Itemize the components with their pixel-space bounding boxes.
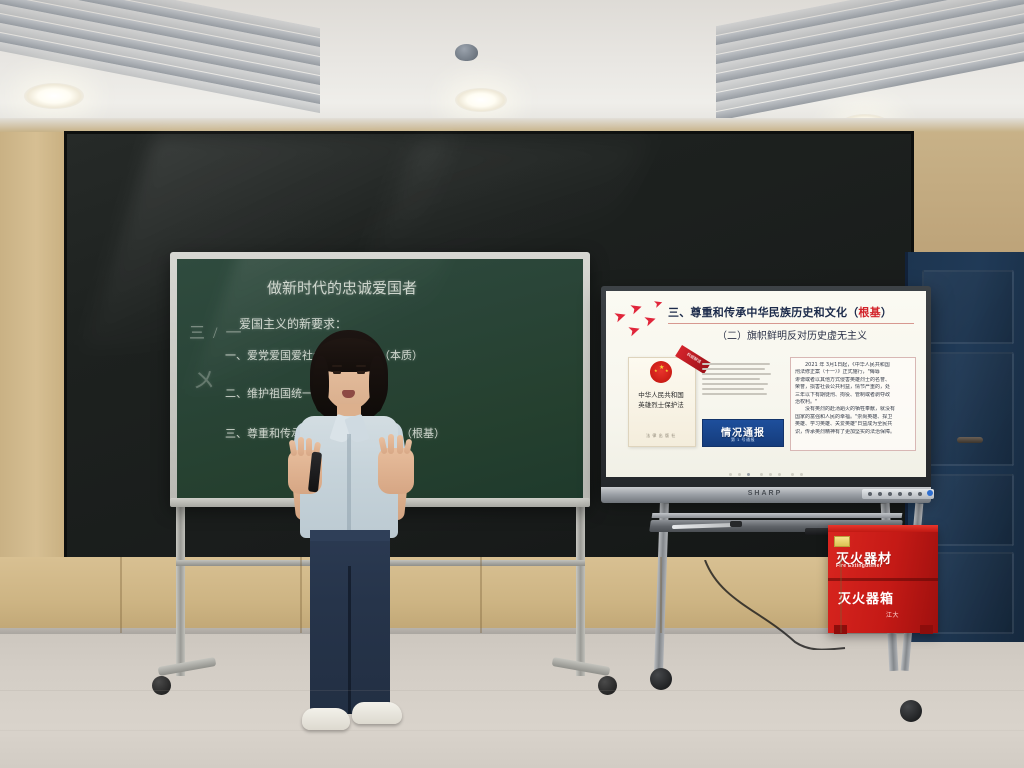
slide-title-row: 三、尊重和传承中华民族历史和文化（根基） bbox=[668, 303, 916, 322]
wainscot-seam bbox=[480, 557, 482, 633]
floor bbox=[0, 634, 1024, 768]
wainscot-seam bbox=[120, 557, 122, 633]
classroom-photo: 做新时代的忠诚爱国者 爱国主义的新要求： 一、爱党爱国爱社会主义的统一（本质） … bbox=[0, 0, 1024, 768]
title-underline bbox=[668, 323, 914, 324]
floor-seam bbox=[0, 690, 1024, 691]
slide-body-line: 没有英烈的赴汤蹈火的牺牲奉献，就没有 bbox=[795, 406, 911, 413]
waistband bbox=[310, 530, 390, 541]
door-panel bbox=[922, 270, 1014, 344]
blackboard-caster bbox=[598, 676, 617, 695]
eyebrow bbox=[356, 365, 366, 367]
power-indicator-icon bbox=[927, 490, 933, 496]
notice-banner-subtitle: 第 1 号通报 bbox=[703, 437, 783, 443]
display-screen[interactable]: ➤ ➤ ➤ ➤ ➤ 三、尊重和传承中华民族历史和文化（根基） （二）旗帜鲜明反对… bbox=[606, 291, 926, 477]
fe-box-foot bbox=[920, 625, 933, 634]
slide-page-dots bbox=[716, 463, 816, 469]
shoe-right bbox=[352, 702, 402, 724]
hair-side bbox=[369, 356, 385, 412]
interactive-display[interactable]: ➤ ➤ ➤ ➤ ➤ 三、尊重和传承中华民族历史和文化（根基） （二）旗帜鲜明反对… bbox=[601, 286, 931, 494]
slide-body-line: 诽谤或者以其他方式侵害英雄烈士的名誉、 bbox=[795, 377, 911, 384]
button-placket bbox=[347, 434, 351, 538]
hand-right bbox=[378, 448, 414, 494]
display-control-panel[interactable] bbox=[862, 489, 934, 499]
blackboard-leftover-marks: 三 / 一 bbox=[189, 319, 243, 343]
slide-body-textbox: 2021 年 3月1日起，《中华人民共和国 刑法修正案（十一）》正式施行，"侮辱… bbox=[790, 357, 916, 451]
display-caster bbox=[900, 700, 922, 722]
blackboard-smudge: 〤 bbox=[193, 363, 215, 395]
blackboard-title: 做新时代的忠诚爱国者 bbox=[267, 277, 417, 298]
door-handle[interactable] bbox=[957, 437, 983, 443]
slide-title-prefix: 三、尊重和传承中华民族历史和文化（ bbox=[668, 306, 858, 319]
red-birds-decoration: ➤ ➤ ➤ ➤ ➤ bbox=[614, 299, 670, 343]
slide-body-line: 英雄、学习英雄、关爱英雄"日益成为全民共 bbox=[795, 421, 911, 428]
book-title-line1: 中华人民共和国 bbox=[630, 389, 692, 399]
display-caster bbox=[650, 668, 672, 690]
display-stand-rail bbox=[652, 513, 903, 518]
slide-title: 三、尊重和传承中华民族历史和文化（根基） bbox=[668, 306, 892, 319]
ceiling-downlight bbox=[455, 88, 507, 112]
blackboard-caster bbox=[152, 676, 171, 695]
fire-extinguisher-box-divider bbox=[828, 578, 938, 581]
stylus-tip bbox=[730, 521, 742, 527]
slide-body-line: 识，传承英烈精神有了更加坚实的法治保障。 bbox=[795, 429, 911, 436]
slide-title-accent: 根基 bbox=[858, 306, 880, 319]
display-brand-logo: SHARP bbox=[735, 490, 795, 501]
ceiling-downlight bbox=[24, 83, 84, 109]
news-snippet bbox=[702, 357, 774, 417]
slide-body-line: 治权利。" bbox=[795, 399, 911, 406]
floor-seam bbox=[0, 730, 1024, 731]
wall-top-trim bbox=[0, 118, 1024, 132]
shoe-left bbox=[302, 708, 350, 730]
trouser-seam bbox=[348, 566, 351, 714]
slide-body-line: 三年以下有期徒刑、拘役、管制或者剥夺政 bbox=[795, 392, 911, 399]
eye bbox=[357, 371, 365, 374]
slide-body-line: 刑法修正案（十一）》正式施行，"侮辱 bbox=[795, 369, 911, 376]
eye bbox=[333, 371, 341, 374]
teacher bbox=[280, 330, 440, 768]
notice-banner: 情况通报 第 1 号通报 bbox=[702, 419, 784, 447]
book-title-line2: 英雄烈士保护法 bbox=[630, 399, 692, 409]
fire-extinguisher-tag bbox=[834, 536, 850, 547]
fire-extinguisher-label-en: Fire Extinguisher bbox=[836, 563, 932, 569]
slide-body-line: 荣誉，损害社会公共利益，情节严重的，处 bbox=[795, 384, 911, 391]
fire-extinguisher-label-cn-bottom: 灭火器箱 bbox=[838, 588, 934, 607]
slide-title-suffix: ） bbox=[881, 306, 892, 319]
slide-body-line: 2021 年 3月1日起，《中华人民共和国 bbox=[795, 362, 911, 369]
national-emblem-icon: ★ ★ ★ bbox=[650, 361, 672, 383]
smoke-detector-icon bbox=[455, 44, 478, 61]
wainscot-seam bbox=[300, 557, 302, 633]
book-imprint: 法 律 出 版 社 bbox=[630, 433, 692, 439]
hair-side bbox=[313, 356, 329, 412]
eyebrow bbox=[332, 365, 342, 367]
fire-extinguisher-brand: 江大 bbox=[886, 610, 934, 619]
wainscot-seam bbox=[660, 557, 662, 633]
upper-right-wall bbox=[905, 120, 1024, 255]
wainscot-seam bbox=[840, 557, 842, 633]
slide-body-line: 国家的富强和人民的幸福。"崇尚英雄、捍卫 bbox=[795, 414, 911, 421]
door-panel bbox=[922, 352, 1014, 466]
slide-subtitle: （二）旗帜鲜明反对历史虚无主义 bbox=[668, 327, 916, 342]
fire-extinguisher-box-lid bbox=[828, 525, 938, 532]
